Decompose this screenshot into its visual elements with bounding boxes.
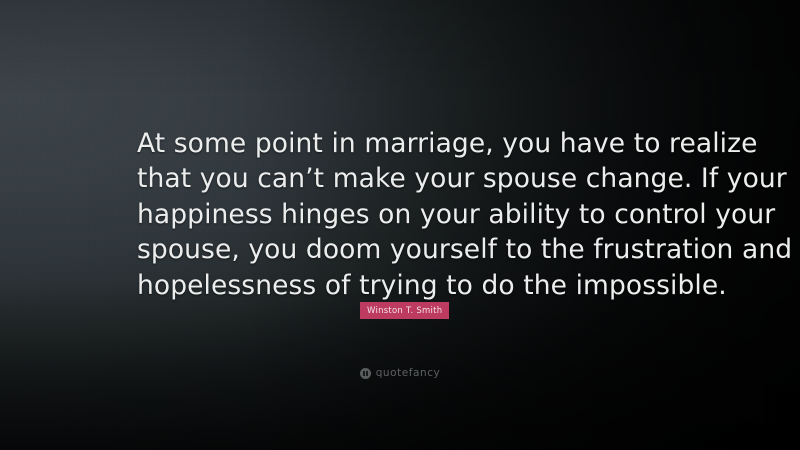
quote-poster: At some point in marriage, you have to r… [0, 0, 800, 450]
watermark-brand-label: quotefancy [376, 367, 441, 379]
author-badge[interactable]: Winston T. Smith [360, 302, 449, 319]
quotefancy-logo-icon [360, 368, 371, 379]
quote-text: At some point in marriage, you have to r… [137, 126, 677, 303]
watermark[interactable]: quotefancy [0, 367, 800, 379]
quote-line: At some point in marriage, you have to r… [137, 126, 677, 161]
quote-line: that you can’t make your spouse change. … [137, 161, 677, 196]
quote-line: hopelessness of trying to do the impossi… [137, 268, 677, 303]
quote-line: happiness hinges on your ability to cont… [137, 197, 677, 232]
quote-line: spouse, you doom yourself to the frustra… [137, 232, 677, 267]
author-name: Winston T. Smith [367, 306, 442, 316]
